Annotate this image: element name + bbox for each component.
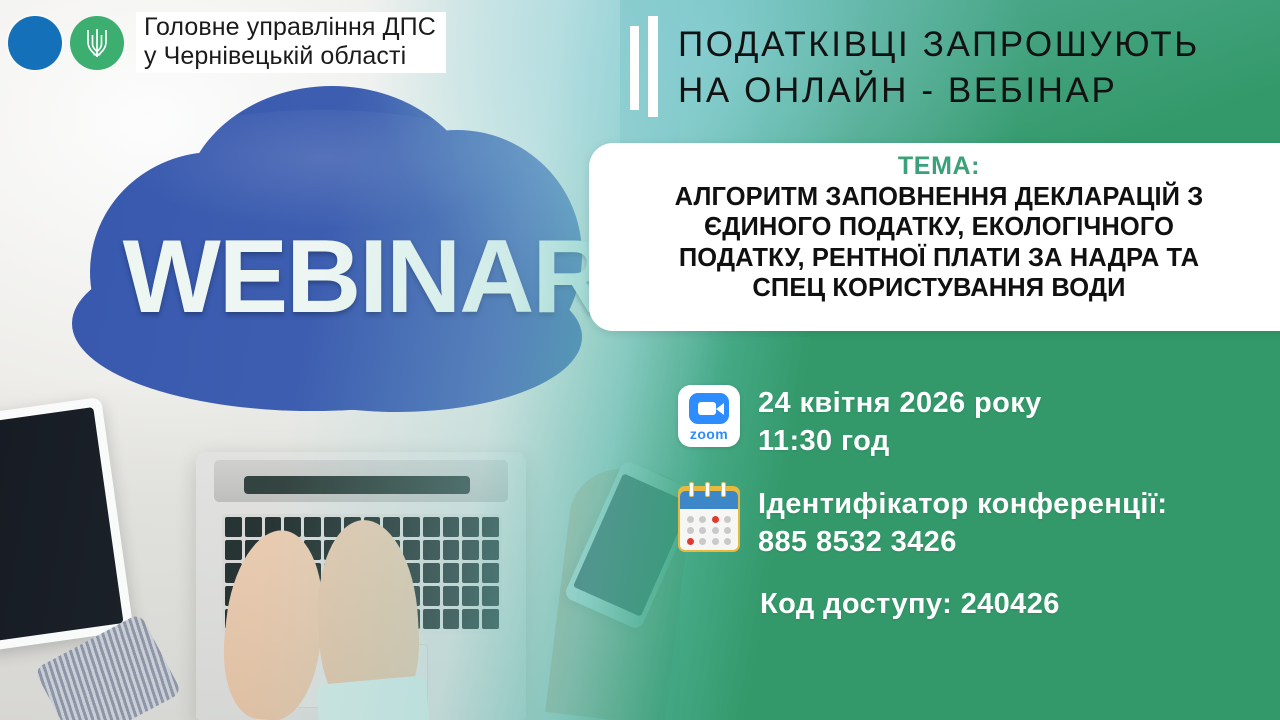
headline-block: ПОДАТКІВЦІ ЗАПРОШУЮТЬ НА ОНЛАЙН - ВЕБІНА…	[630, 16, 1200, 117]
webinar-announcement-poster: WEBINAR	[0, 0, 1280, 720]
zoom-camera-badge	[689, 393, 729, 424]
organization-logo-block: Головне управління ДПС у Чернівецькій об…	[8, 12, 446, 73]
zoom-icon-label: zoom	[678, 426, 740, 442]
calendar-dots	[685, 514, 733, 546]
ukraine-trident-icon	[84, 26, 110, 60]
access-code-text: Код доступу: 240426	[760, 588, 1167, 621]
conference-row: Ідентифікатор конференції: 885 8532 3426	[678, 486, 1167, 561]
accent-bar-first	[630, 26, 639, 110]
headline-title: ПОДАТКІВЦІ ЗАПРОШУЮТЬ НА ОНЛАЙН - ВЕБІНА…	[678, 22, 1200, 113]
schedule-row: zoom 24 квітня 2026 року 11:30 год	[678, 385, 1167, 460]
details-block: zoom 24 квітня 2026 року 11:30 год Іден	[678, 385, 1167, 621]
organization-name: Головне управління ДПС у Чернівецькій об…	[136, 12, 446, 73]
topic-body-text: АЛГОРИТМ ЗАПОВНЕННЯ ДЕКЛАРАЦІЙ З ЄДИНОГО…	[603, 182, 1275, 303]
conference-id-text: Ідентифікатор конференції: 885 8532 3426	[758, 486, 1167, 561]
schedule-text: 24 квітня 2026 року 11:30 год	[758, 385, 1042, 460]
zoom-app-icon[interactable]: zoom	[678, 385, 740, 447]
topic-label: ТЕМА:	[603, 152, 1275, 181]
calendar-icon	[678, 486, 740, 552]
topic-card: ТЕМА: АЛГОРИТМ ЗАПОВНЕННЯ ДЕКЛАРАЦІЙ З Є…	[589, 143, 1280, 331]
logo-green-circle-icon	[70, 16, 124, 70]
accent-bar-second	[648, 16, 658, 117]
logo-blue-circle-icon	[8, 16, 62, 70]
